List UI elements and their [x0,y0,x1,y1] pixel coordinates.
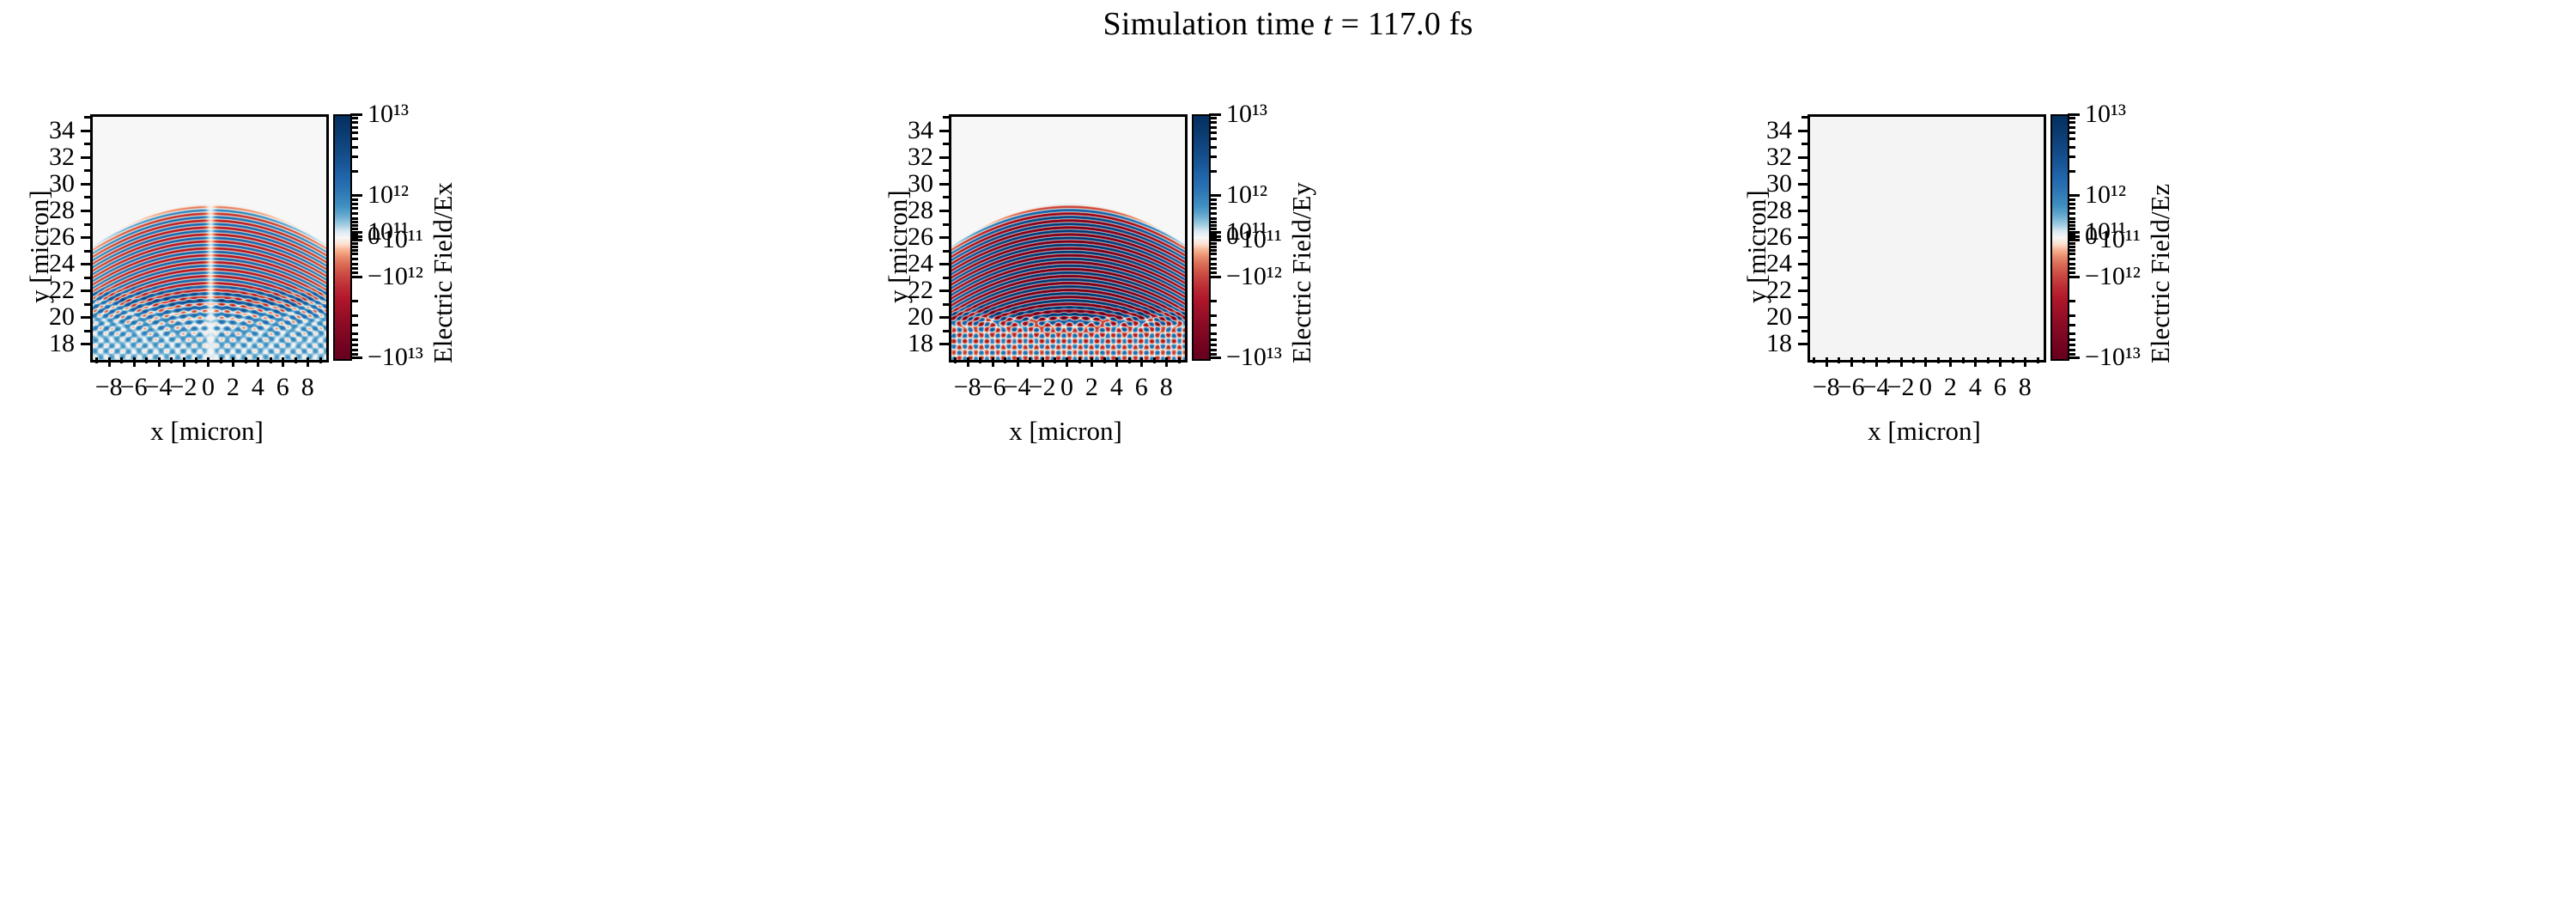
x-tick-minor [1004,357,1006,363]
colorbar-tick-minor [1209,212,1217,215]
x-axis-title: x [micron] [1009,416,1122,447]
colorbar-tick-minor [350,263,358,265]
y-tick-minor [943,196,949,198]
y-tick-major [81,289,90,292]
colorbar-tick-minor [2068,344,2075,346]
y-tick-minor [84,223,90,226]
y-tick-major [1798,289,1807,292]
colorbar-tick-minor [2068,117,2075,119]
colorbar-tick-minor [350,258,358,260]
x-tick-label: −2 [170,373,197,402]
y-tick-major [939,343,949,345]
y-tick-major [939,156,949,159]
x-tick-label: 0 [1060,373,1073,402]
colorbar-tick-minor [2068,267,2075,270]
colorbar-tick-minor [350,217,358,220]
y-tick-major [81,183,90,186]
colorbar-tick-minor [350,353,358,356]
colorbar-tick-minor [350,246,358,248]
x-tick-label: 8 [2019,373,2032,402]
colorbar-tick-minor [1209,117,1217,119]
x-tick-minor [2037,357,2039,363]
colorbar-gradient [1194,116,1209,359]
x-tick-minor [1078,357,1081,363]
colorbar-tick-label: 10¹³ [368,100,409,129]
colorbar-tick-minor [350,228,358,230]
y-tick-major [939,289,949,292]
x-tick-major [1140,357,1143,367]
colorbar-tick-minor [350,221,358,223]
y-tick-major [1798,130,1807,132]
colorbar-tick-minor [2068,338,2075,341]
x-tick-minor [1029,357,1031,363]
x-tick-major [183,357,185,367]
colorbar-tick-minor [350,224,358,227]
x-tick-label: −6 [1838,373,1865,402]
colorbar-tick-minor [350,300,358,302]
x-tick-minor [979,357,981,363]
colorbar-tick-minor [1209,228,1217,230]
y-tick-label: 18 [9,329,75,358]
y-tick-label: 32 [9,143,75,172]
colorbar-tick-minor [1209,203,1217,205]
x-tick-major [2024,357,2026,367]
colorbar-tick-minor [350,314,358,317]
colorbar-tick-minor [1209,170,1217,173]
y-tick-major [939,316,949,319]
x-tick-major [257,357,259,367]
plot-area-ex[interactable] [90,114,329,363]
colorbar-tick-minor [350,207,358,210]
y-tick-minor [943,169,949,172]
y-tick-minor [943,223,949,226]
colorbar-tick-minor [2068,228,2075,230]
colorbar-tick-label: −10¹³ [2085,343,2141,372]
colorbar-tick-minor [350,203,358,205]
x-tick-minor [319,357,322,363]
y-tick-major [1798,156,1807,159]
colorbar-tick [350,113,362,116]
colorbar-tick-minor [1209,221,1217,223]
colorbar-tick-minor [350,137,358,140]
colorbar-tick [1209,113,1221,116]
colorbar-tick-minor [1209,146,1217,149]
x-tick-minor [1962,357,1965,363]
colorbar-tick [1209,194,1221,197]
x-tick-major [1826,357,1828,367]
y-tick-major [939,130,949,132]
colorbar-tick-minor [2068,232,2075,235]
colorbar-tick-label: −10¹³ [1226,343,1282,372]
colorbar-tick-minor [2068,246,2075,248]
colorbar-tick-minor [1209,314,1217,317]
x-tick-label: −6 [979,373,1006,402]
y-tick-minor [1801,223,1807,226]
x-tick-major [307,357,309,367]
x-tick-minor [1987,357,1990,363]
colorbar-gradient [335,116,350,359]
y-tick-minor [943,330,949,332]
y-tick-label: 34 [1726,116,1792,145]
x-tick-minor [954,357,957,363]
x-tick-major [232,357,234,367]
colorbar-tick-minor [1209,232,1217,235]
colorbar-tick-label: 10¹² [1226,180,1267,210]
colorbar-tick-minor [1209,198,1217,201]
colorbar-tick-minor [2068,349,2075,351]
y-tick-minor [943,303,949,306]
y-axis-title: y [micron] [24,190,55,303]
colorbar-tick-minor [350,155,358,158]
colorbar-tick-minor [350,170,358,173]
x-tick-minor [245,357,247,363]
colorbar-tick-minor [1209,155,1217,158]
colorbar-tick-minor [1209,332,1217,335]
y-tick-label: 34 [867,116,933,145]
x-tick-major [1165,357,1168,367]
x-tick-major [1066,357,1068,367]
x-tick-label: 6 [276,373,289,402]
colorbar-tick-minor [2068,242,2075,245]
x-tick-label: −2 [1029,373,1056,402]
colorbar-tick-minor [1209,137,1217,140]
colorbar-tick-minor [1209,271,1217,274]
x-tick-label: −8 [1813,373,1840,402]
colorbar-tick-minor [2068,146,2075,149]
colorbar-tick-label: −10¹² [1226,262,1282,291]
y-tick-major [81,210,90,212]
colorbar-tick-minor [350,238,358,241]
colorbar-tick-minor [2068,126,2075,129]
x-tick-major [1042,357,1044,367]
colorbar-tick-label: 10¹³ [1226,100,1267,129]
y-tick-major [81,316,90,319]
title-prefix: Simulation time [1103,6,1324,42]
x-tick-major [1924,357,1927,367]
x-tick-minor [295,357,297,363]
x-tick-minor [1128,357,1131,363]
x-tick-label: 2 [1085,373,1098,402]
x-tick-minor [1054,357,1056,363]
y-tick-major [1798,183,1807,186]
y-tick-minor [84,277,90,279]
colorbar-tick-label: −10¹¹ [368,225,423,254]
colorbar-tick-minor [350,271,358,274]
y-tick-label: 18 [867,329,933,358]
x-axis-title: x [micron] [150,416,264,447]
colorbar-tick-minor [350,146,358,149]
colorbar-tick-label: −10¹¹ [1226,225,1282,254]
colorbar-title-ex: Electric Field/Ex [428,182,459,363]
colorbar-tick-label: 10¹² [2085,180,2126,210]
y-tick-minor [84,169,90,172]
colorbar-ey[interactable] [1192,114,1211,361]
x-tick-major [1017,357,1019,367]
colorbar-tick-minor [350,332,358,335]
y-tick-major [1798,210,1807,212]
colorbar-tick-minor [350,121,358,124]
y-tick-minor [1801,330,1807,332]
x-tick-label: 8 [301,373,314,402]
y-tick-major [939,183,949,186]
x-tick-major [207,357,210,367]
colorbar-tick-minor [2068,258,2075,260]
x-tick-label: −8 [95,373,123,402]
colorbar-tick-minor [350,126,358,129]
colorbar-tick [2068,276,2080,278]
colorbar-tick-minor [1209,300,1217,302]
colorbar-tick-minor [350,131,358,134]
x-axis-title: x [micron] [1868,416,1981,447]
title-value: 117.0 [1368,6,1441,42]
colorbar-tick [350,357,362,359]
x-tick-label: 2 [227,373,240,402]
colorbar-tick-minor [350,242,358,245]
colorbar-tick-minor [1209,126,1217,129]
colorbar-tick [350,276,362,278]
y-tick-minor [1801,116,1807,119]
colorbar-tick-minor [1209,249,1217,252]
y-tick-major [939,263,949,265]
x-tick-label: 6 [1994,373,2007,402]
colorbar-tick-minor [1209,131,1217,134]
colorbar-tick [2068,194,2080,197]
y-tick-major [81,263,90,265]
colorbar-tick-minor [2068,207,2075,210]
colorbar-tick-minor [1209,242,1217,245]
x-tick-minor [170,357,173,363]
colorbar-tick-minor [2068,324,2075,326]
colorbar-tick-minor [2068,224,2075,227]
colorbar-tick [1209,357,1221,359]
plot-area-ez[interactable] [1807,114,2046,363]
colorbar-tick-minor [1209,258,1217,260]
colorbar-title-ey: Electric Field/Ey [1286,182,1317,363]
colorbar-tick-minor [1209,324,1217,326]
colorbar-tick-minor [350,198,358,201]
x-tick-label: −4 [1004,373,1031,402]
x-tick-minor [1912,357,1915,363]
x-tick-major [1999,357,2002,367]
y-tick-major [1798,343,1807,345]
heatmap-image-ey [951,117,1185,360]
x-tick-label: 0 [1919,373,1932,402]
x-tick-major [1115,357,1118,367]
colorbar-tick-minor [2068,212,2075,215]
colorbar-tick-minor [350,349,358,351]
y-tick-minor [943,250,949,253]
colorbar-tick-minor [1209,217,1217,220]
x-tick-minor [145,357,148,363]
colorbar-tick-minor [1209,246,1217,248]
x-tick-label: 6 [1135,373,1148,402]
x-tick-label: −4 [1862,373,1890,402]
y-tick-minor [1801,303,1807,306]
colorbar-tick-minor [2068,332,2075,335]
colorbar-tick-minor [2068,221,2075,223]
y-tick-major [81,236,90,239]
colorbar-tick-minor [350,232,358,235]
x-tick-minor [1937,357,1940,363]
y-tick-label: 32 [867,143,933,172]
x-tick-minor [1838,357,1840,363]
x-tick-minor [2012,357,2014,363]
colorbar-tick-minor [1209,238,1217,241]
y-tick-minor [1801,169,1807,172]
y-tick-minor [84,143,90,145]
colorbar-tick-minor [350,344,358,346]
title-variable: t [1323,6,1333,42]
x-tick-minor [195,357,197,363]
x-tick-label: 4 [1110,373,1123,402]
x-tick-label: 4 [1969,373,1982,402]
x-tick-minor [220,357,222,363]
y-tick-minor [943,116,949,119]
x-tick-major [1850,357,1853,367]
x-tick-label: 8 [1160,373,1173,402]
heatmap-image-ez [1810,117,2044,360]
colorbar-tick-minor [2068,203,2075,205]
x-tick-label: −6 [120,373,148,402]
colorbar-tick-minor [2068,253,2075,255]
colorbar-tick-minor [1209,344,1217,346]
y-tick-major [81,130,90,132]
x-tick-major [967,357,969,367]
y-tick-minor [84,303,90,306]
colorbar-tick-minor [1209,353,1217,356]
y-tick-major [939,236,949,239]
y-tick-minor [943,143,949,145]
colorbar-tick-minor [2068,170,2075,173]
colorbar-tick-minor [2068,155,2075,158]
x-tick-major [108,357,111,367]
colorbar-tick-minor [1209,338,1217,341]
figure-root: Simulation time t = 117.0 fs 34323028262… [0,0,2576,902]
y-tick-label: 20 [867,302,933,332]
y-tick-major [1798,316,1807,319]
x-tick-label: −2 [1887,373,1915,402]
x-tick-major [133,357,136,367]
colorbar-tick-minor [1209,253,1217,255]
colorbar-title-ez: Electric Field/Ez [2145,183,2176,363]
colorbar-tick-minor [2068,249,2075,252]
x-tick-major [1875,357,1878,367]
colorbar-tick-minor [2068,198,2075,201]
colorbar-tick-minor [1209,263,1217,265]
y-axis-title: y [micron] [883,190,914,303]
colorbar-tick-minor [2068,314,2075,317]
y-tick-label: 34 [9,116,75,145]
title-unit: fs [1441,6,1473,42]
y-tick-minor [84,196,90,198]
x-tick-major [1974,357,1977,367]
colorbar-tick [350,194,362,197]
x-tick-major [282,357,284,367]
colorbar-tick [1209,276,1221,278]
colorbar-tick-minor [1209,121,1217,124]
colorbar-tick-minor [2068,263,2075,265]
colorbar-tick-label: −10¹¹ [2085,225,2141,254]
x-tick-label: 2 [1944,373,1957,402]
colorbar-ez[interactable] [2050,114,2069,361]
y-tick-minor [84,330,90,332]
y-tick-major [81,343,90,345]
colorbar-tick-minor [2068,131,2075,134]
y-axis-title: y [micron] [1741,190,1772,303]
colorbar-tick-minor [350,324,358,326]
y-tick-minor [84,250,90,253]
y-tick-minor [84,116,90,119]
y-tick-major [939,210,949,212]
colorbar-tick-minor [2068,121,2075,124]
y-tick-minor [1801,143,1807,145]
colorbar-tick-minor [1209,267,1217,270]
colorbar-tick-minor [1209,224,1217,227]
colorbar-tick-label: −10¹³ [368,343,423,372]
y-tick-minor [1801,277,1807,279]
colorbar-tick-minor [350,253,358,255]
x-tick-major [1900,357,1903,367]
x-tick-minor [1887,357,1890,363]
x-tick-major [1949,357,1952,367]
colorbar-tick-label: −10¹² [368,262,423,291]
x-tick-major [1091,357,1093,367]
colorbar-tick-minor [2068,271,2075,274]
colorbar-tick-minor [350,338,358,341]
y-tick-major [1798,236,1807,239]
y-tick-label: 20 [1726,302,1792,332]
y-tick-label: 32 [1726,143,1792,172]
colorbar-gradient [2052,116,2068,359]
colorbar-tick-minor [1209,207,1217,210]
colorbar-tick-minor [2068,137,2075,140]
y-tick-minor [1801,196,1807,198]
x-tick-minor [1178,357,1181,363]
x-tick-minor [270,357,272,363]
colorbar-ex[interactable] [333,114,352,361]
colorbar-tick-minor [350,249,358,252]
y-tick-label: 20 [9,302,75,332]
x-tick-label: −8 [954,373,981,402]
plot-area-ey[interactable] [949,114,1188,363]
colorbar-tick-minor [1209,349,1217,351]
figure-title: Simulation time t = 117.0 fs [0,5,2576,43]
colorbar-tick-minor [2068,238,2075,241]
colorbar-tick-minor [2068,300,2075,302]
colorbar-tick [2068,113,2080,116]
x-tick-minor [95,357,98,363]
colorbar-tick-minor [2068,353,2075,356]
x-tick-major [158,357,161,367]
y-tick-minor [1801,250,1807,253]
colorbar-tick-minor [2068,217,2075,220]
colorbar-tick [2068,357,2080,359]
colorbar-tick-minor [350,267,358,270]
x-tick-label: 4 [252,373,264,402]
x-tick-minor [1153,357,1156,363]
colorbar-tick-label: 10¹² [368,180,409,210]
colorbar-tick-label: −10¹² [2085,262,2141,291]
x-tick-minor [1862,357,1865,363]
colorbar-tick-minor [350,117,358,119]
y-tick-label: 18 [1726,329,1792,358]
x-tick-major [992,357,994,367]
x-tick-minor [1103,357,1106,363]
title-equals: = [1333,6,1368,42]
y-tick-major [1798,263,1807,265]
x-tick-label: −4 [145,373,173,402]
colorbar-tick-minor [350,212,358,215]
